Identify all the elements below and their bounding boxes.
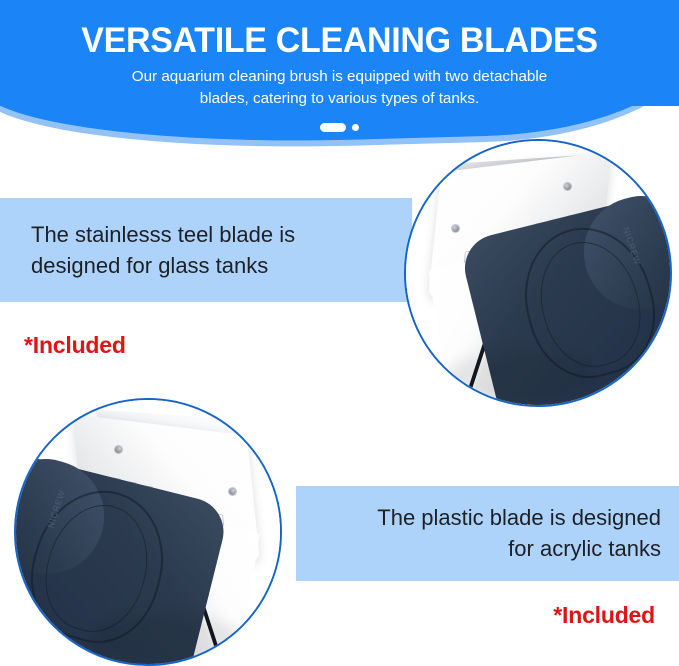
photo-shadow xyxy=(446,351,596,401)
holder-screw-left-icon xyxy=(452,225,459,232)
header-subtitle-line-1: Our aquarium cleaning brush is equipped … xyxy=(0,66,679,88)
stainless-steel-blade-scene: NICREW xyxy=(406,141,670,405)
page-title: VERSATILE CLEANING BLADES xyxy=(10,22,669,59)
holder-screw-right-icon xyxy=(115,446,122,453)
feature-1-included-label: *Included xyxy=(24,332,126,358)
feature-1-line-1: The stainlesss teel blade is xyxy=(31,220,391,251)
holder-screw-left-icon xyxy=(229,488,236,495)
pagination-active-pill-icon[interactable] xyxy=(320,123,346,132)
feature-1-included: *Included xyxy=(24,332,384,359)
header-subtitle-line-2: blades, catering to various types of tan… xyxy=(0,88,679,110)
feature-2-description: The plastic blade is designed for acryli… xyxy=(318,503,661,565)
feature-1-description: The stainlesss teel blade is designed fo… xyxy=(31,220,391,282)
stainless-steel-blade-photo: NICREW xyxy=(404,139,672,407)
pagination-inactive-dot-icon[interactable] xyxy=(352,124,359,131)
carousel-pagination[interactable] xyxy=(0,123,679,132)
holder-screw-right-icon xyxy=(564,183,571,190)
feature-1-line-2: designed for glass tanks xyxy=(31,251,391,282)
feature-2-line-2: for acrylic tanks xyxy=(318,534,661,565)
plastic-blade-photo: NICREW xyxy=(14,398,282,666)
photo-shadow xyxy=(92,614,242,664)
header-content: VERSATILE CLEANING BLADES Our aquarium c… xyxy=(0,0,679,132)
product-infographic-page: VERSATILE CLEANING BLADES Our aquarium c… xyxy=(0,0,679,666)
feature-2-included-label: *Included xyxy=(553,602,655,628)
feature-2-included: *Included xyxy=(318,602,655,629)
plastic-blade-scene: NICREW xyxy=(16,400,280,664)
feature-2-line-1: The plastic blade is designed xyxy=(318,503,661,534)
